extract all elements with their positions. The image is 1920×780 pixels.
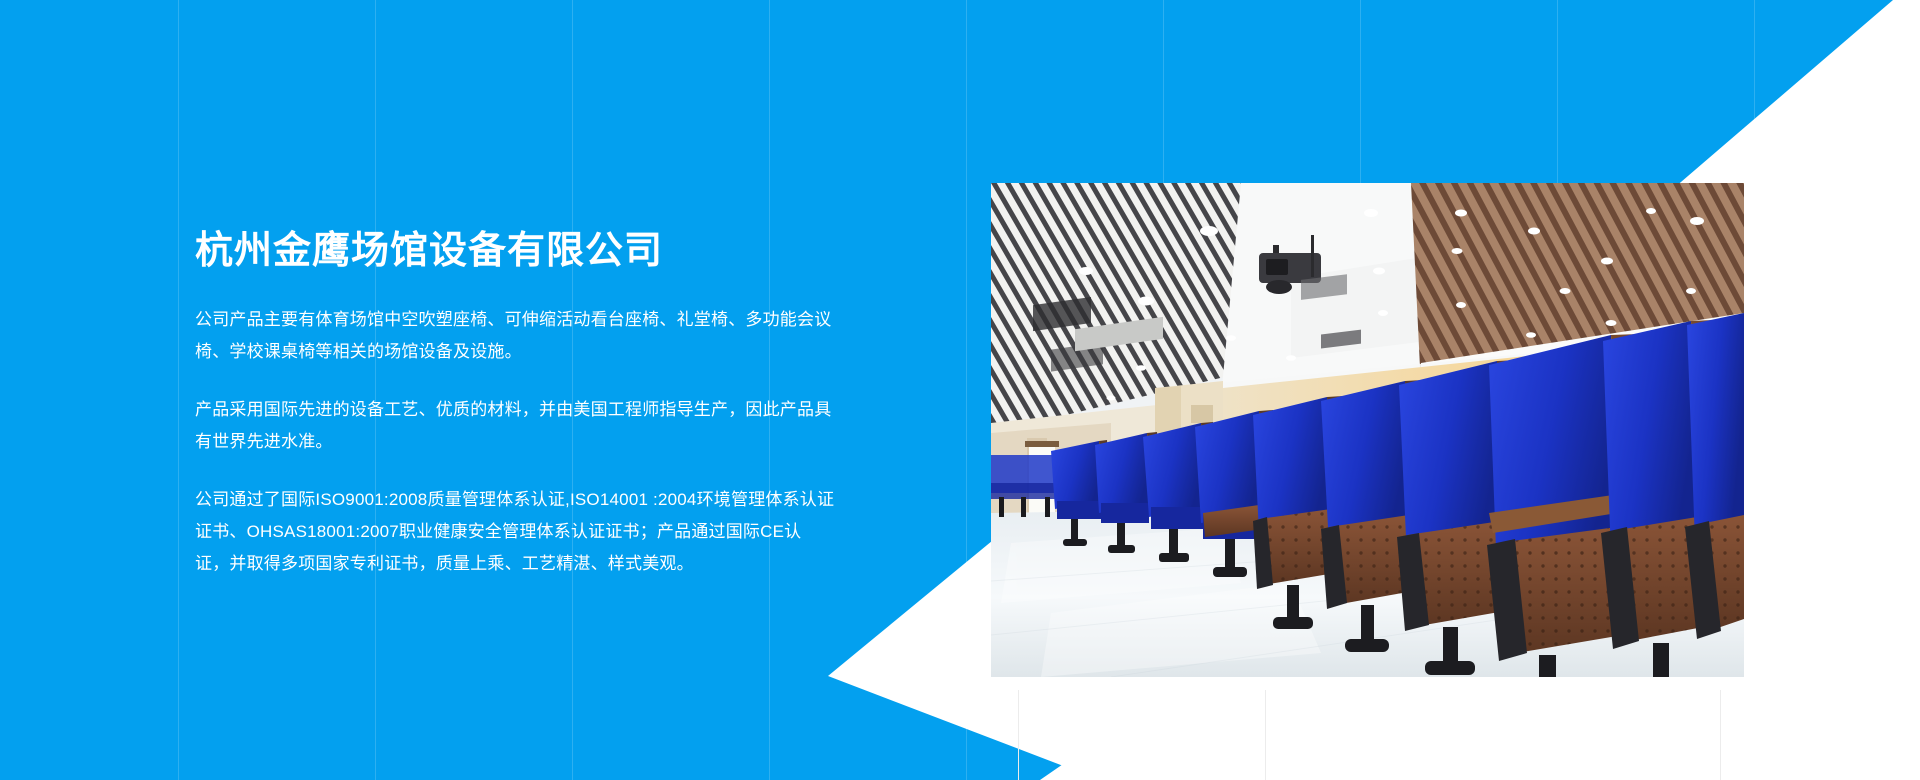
intro-paragraph-certifications: 公司通过了国际ISO9001:2008质量管理体系认证,ISO14001 :20… (195, 484, 835, 580)
auditorium-illustration (991, 183, 1744, 677)
white-band-line (1018, 690, 1019, 780)
white-band-line (1720, 690, 1721, 780)
intro-paragraph-products: 公司产品主要有体育场馆中空吹塑座椅、可伸缩活动看台座椅、礼堂椅、多功能会议椅、学… (195, 304, 835, 368)
white-band-line (1265, 690, 1266, 780)
hero-banner: 杭州金鹰场馆设备有限公司 公司产品主要有体育场馆中空吹塑座椅、可伸缩活动看台座椅… (0, 0, 1920, 780)
page-title: 杭州金鹰场馆设备有限公司 (195, 228, 835, 276)
intro-paragraph-quality: 产品采用国际先进的设备工艺、优质的材料，并由美国工程师指导生产，因此产品具有世界… (195, 394, 835, 458)
auditorium-seating-photo (991, 183, 1744, 677)
hero-text-column: 杭州金鹰场馆设备有限公司 公司产品主要有体育场馆中空吹塑座椅、可伸缩活动看台座椅… (195, 228, 835, 580)
